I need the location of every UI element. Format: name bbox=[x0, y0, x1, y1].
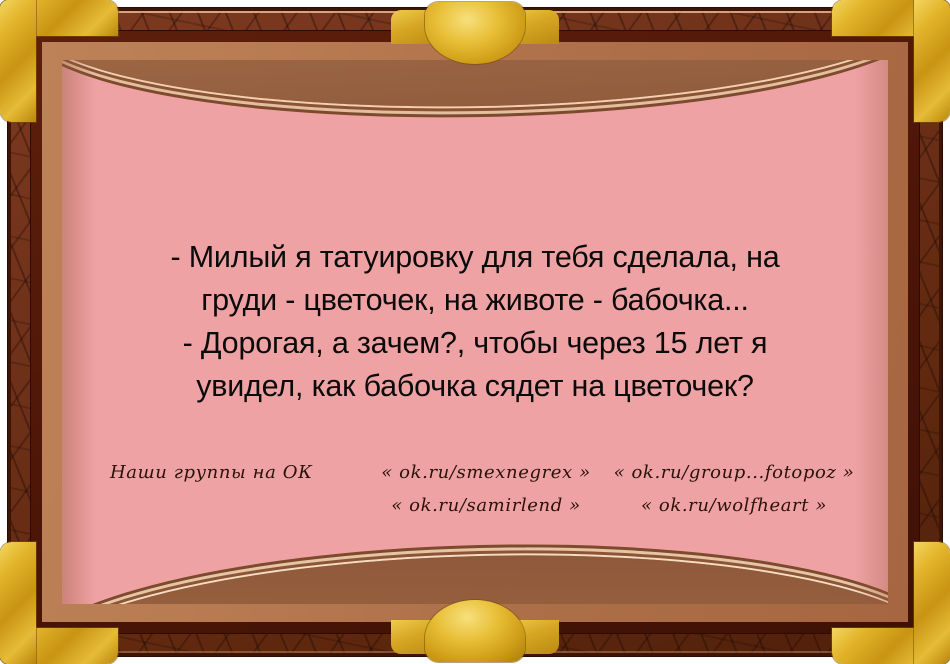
signature-block: Наши группы на ОК « ok.ru/smexnegrex » «… bbox=[62, 462, 888, 516]
joke-line-4: увидел, как бабочка сядет на цветочек? bbox=[62, 365, 888, 408]
joke-text: - Милый я татуировку для тебя сделала, н… bbox=[62, 236, 888, 408]
corner-arm-vertical bbox=[914, 0, 950, 122]
pink-page: - Милый я татуировку для тебя сделала, н… bbox=[62, 60, 888, 604]
group-link-smexnegrex[interactable]: « ok.ru/smexnegrex » bbox=[362, 462, 610, 483]
joke-line-1: - Милый я татуировку для тебя сделала, н… bbox=[62, 236, 888, 279]
corner-arm-vertical bbox=[914, 542, 950, 664]
page-gutter-bottom bbox=[62, 545, 888, 604]
group-link-fotopoz[interactable]: « ok.ru/group...fotopoz » bbox=[610, 462, 858, 483]
corner-arm-vertical bbox=[0, 542, 36, 664]
corner-arm-vertical bbox=[0, 0, 36, 122]
group-link-samirlend[interactable]: « ok.ru/samirlend » bbox=[362, 495, 610, 516]
gold-corner-top-right-icon bbox=[832, 0, 950, 122]
signature-row-2: « ok.ru/samirlend » « ok.ru/wolfheart » bbox=[62, 495, 888, 516]
joke-card: - Милый я татуировку для тебя сделала, н… bbox=[0, 0, 950, 664]
page-gutter-top bbox=[62, 60, 888, 115]
book-page-block: - Милый я татуировку для тебя сделала, н… bbox=[42, 42, 908, 622]
cartouche-dome bbox=[425, 2, 525, 64]
gold-corner-bottom-left-icon bbox=[0, 542, 118, 664]
gold-corner-bottom-right-icon bbox=[832, 542, 950, 664]
signature-row-1: Наши группы на ОК « ok.ru/smexnegrex » «… bbox=[62, 462, 888, 483]
cartouche-dome bbox=[425, 600, 525, 662]
joke-line-3: - Дорогая, а зачем?, чтобы через 15 лет … bbox=[62, 322, 888, 365]
joke-line-2: груди - цветочек, на животе - бабочка... bbox=[62, 279, 888, 322]
gold-cartouche-bottom-icon bbox=[391, 600, 559, 662]
gold-cartouche-top-icon bbox=[391, 2, 559, 64]
signature-label: Наши группы на ОК bbox=[110, 462, 362, 483]
group-link-wolfheart[interactable]: « ok.ru/wolfheart » bbox=[610, 495, 858, 516]
gold-corner-top-left-icon bbox=[0, 0, 118, 122]
